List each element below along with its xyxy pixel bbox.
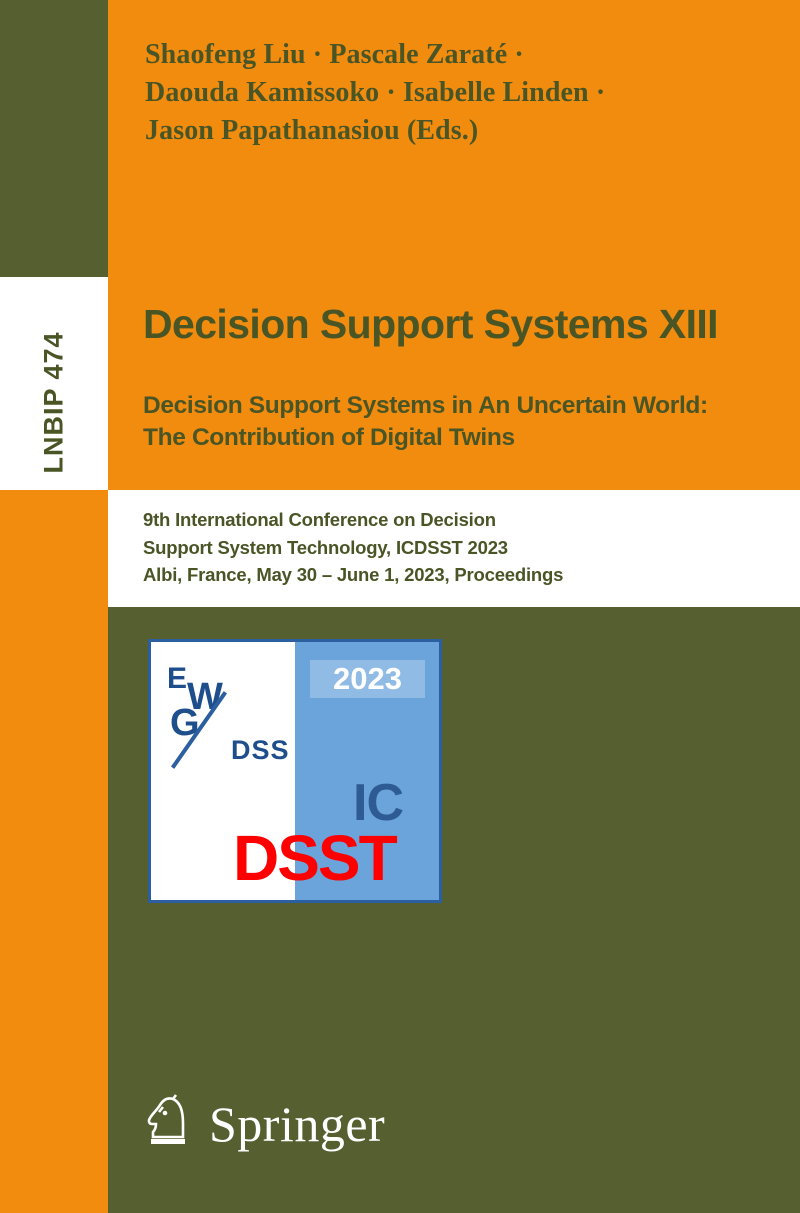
subtitle-line-1: Decision Support Systems in An Uncertain… <box>143 390 793 422</box>
editors-list: Shaofeng Liu · Pascale Zaraté · Daouda K… <box>145 36 745 150</box>
dss-label: DSS <box>231 735 290 766</box>
green-block-top-left <box>0 0 108 277</box>
conference-line-2: Support System Technology, ICDSST 2023 <box>143 534 793 562</box>
page-title: Decision Support Systems XIII <box>143 300 783 348</box>
conference-logo: E W G DSS 2023 IC DSST <box>148 639 442 903</box>
publisher-name: Springer <box>209 1099 385 1149</box>
orange-block-spine-lower <box>0 490 108 607</box>
dsst-text: DSST <box>233 826 396 890</box>
subtitle-line-2: The Contribution of Digital Twins <box>143 422 793 454</box>
book-cover: Shaofeng Liu · Pascale Zaraté · Daouda K… <box>0 0 800 1213</box>
series-label-text: LNBIP 474 <box>39 331 70 473</box>
publisher-logo: Springer <box>143 1093 385 1155</box>
orange-block-left-lower <box>0 607 108 1213</box>
conference-line-3: Albi, France, May 30 – June 1, 2023, Pro… <box>143 561 793 589</box>
ewg-letter-e: E <box>167 664 187 694</box>
editor-line-2: Daouda Kamissoko · Isabelle Linden · <box>145 74 745 112</box>
editor-line-3: Jason Papathanasiou (Eds.) <box>145 112 745 150</box>
page-subtitle: Decision Support Systems in An Uncertain… <box>143 390 793 454</box>
knight-chess-piece-icon <box>143 1093 197 1155</box>
editor-line-1: Shaofeng Liu · Pascale Zaraté · <box>145 36 745 74</box>
conference-line-1: 9th International Conference on Decision <box>143 506 793 534</box>
conference-details: 9th International Conference on Decision… <box>143 506 793 589</box>
year-badge: 2023 <box>310 660 425 698</box>
series-spine-label: LNBIP 474 <box>0 277 108 490</box>
year-text: 2023 <box>333 661 402 697</box>
